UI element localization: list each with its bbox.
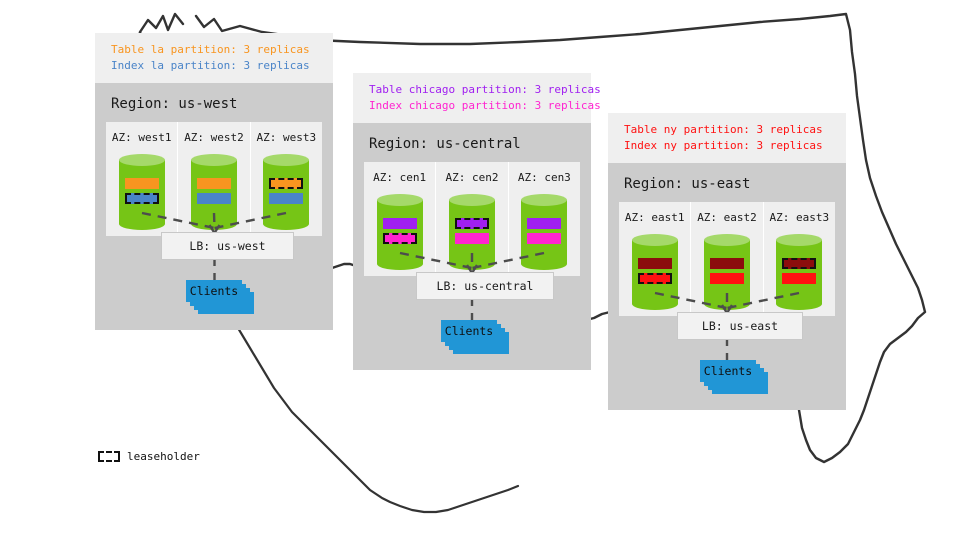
region-banner-us-central: Table chicago partition: 3 replicasIndex… (353, 73, 591, 123)
table-replica-leaseholder (269, 178, 303, 189)
index-replica (269, 193, 303, 204)
index-replica-info: Index la partition: 3 replicas (111, 58, 319, 74)
az-label: AZ: west1 (106, 131, 177, 144)
load-balancer-us-east[interactable]: LB: us-east (677, 312, 803, 340)
index-replica (197, 193, 231, 204)
region-title-us-west: Region: us-west (95, 83, 333, 122)
index-replica-leaseholder (125, 193, 159, 204)
cylinder-top (449, 194, 495, 206)
cylinder-top (377, 194, 423, 206)
load-balancer-us-west[interactable]: LB: us-west (161, 232, 294, 260)
cylinder-top (119, 154, 165, 166)
region-title-us-east: Region: us-east (608, 163, 846, 202)
region-banner-us-east: Table ny partition: 3 replicasIndex ny p… (608, 113, 846, 163)
legend: leaseholder (98, 450, 200, 463)
az-label: AZ: west2 (178, 131, 249, 144)
table-replica-info: Table ny partition: 3 replicas (624, 122, 832, 138)
az-label: AZ: cen2 (436, 171, 507, 184)
az-label: AZ: west3 (251, 131, 322, 144)
table-replica (125, 178, 159, 189)
az-label: AZ: cen3 (509, 171, 580, 184)
table-replica-info: Table la partition: 3 replicas (111, 42, 319, 58)
clients-us-central[interactable]: Clients (441, 320, 509, 354)
region-banner-us-west: Table la partition: 3 replicasIndex la p… (95, 33, 333, 83)
dashed-rectangle-icon (98, 451, 120, 462)
clients-us-east[interactable]: Clients (700, 360, 768, 394)
clients-label-box: Clients (186, 280, 242, 302)
cylinder-top (263, 154, 309, 166)
clients-label-box: Clients (441, 320, 497, 342)
index-replica-info: Index chicago partition: 3 replicas (369, 98, 577, 114)
index-replica-info: Index ny partition: 3 replicas (624, 138, 832, 154)
legend-label: leaseholder (127, 450, 200, 463)
table-replica (197, 178, 231, 189)
load-balancer-us-central[interactable]: LB: us-central (416, 272, 554, 300)
cylinder-top (191, 154, 237, 166)
diagram-canvas: leaseholder Table la partition: 3 replic… (0, 0, 960, 540)
table-replica-info: Table chicago partition: 3 replicas (369, 82, 577, 98)
clients-label-box: Clients (700, 360, 756, 382)
az-to-lb-connectors-us-west (0, 209, 960, 238)
az-label: AZ: cen1 (364, 171, 435, 184)
cylinder-top (521, 194, 567, 206)
clients-us-west[interactable]: Clients (186, 280, 254, 314)
region-title-us-central: Region: us-central (353, 123, 591, 162)
